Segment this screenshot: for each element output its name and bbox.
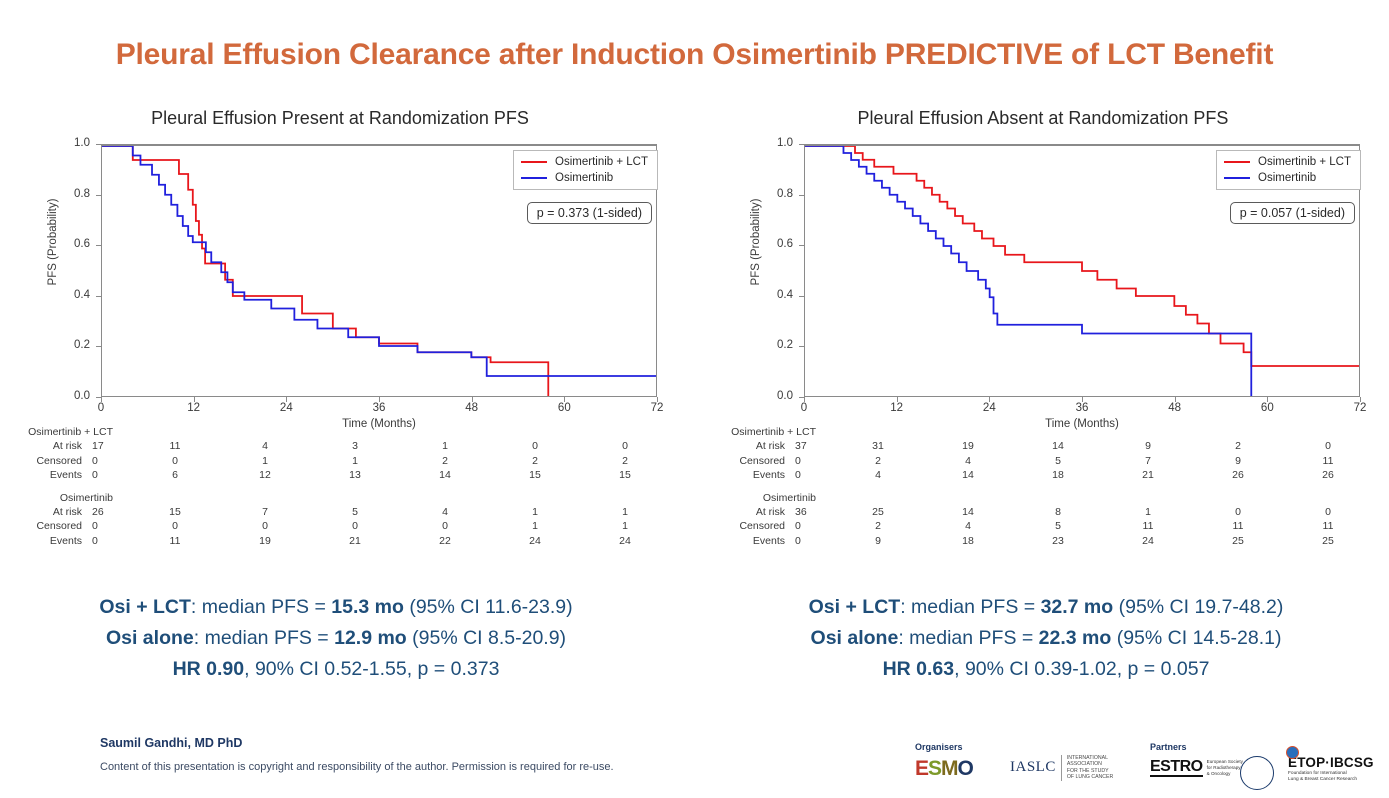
risk-cell: 9 bbox=[833, 534, 923, 549]
risk-row-label: At risk bbox=[10, 439, 82, 454]
risk-cell: 9 bbox=[1193, 454, 1283, 469]
x-axis-tick-label: 60 bbox=[1247, 402, 1287, 414]
risk-row-label: Events bbox=[10, 534, 82, 549]
risk-cell: 5 bbox=[1013, 454, 1103, 469]
summary-ci: (95% CI 8.5-20.9) bbox=[407, 627, 566, 649]
legend-swatch-icon bbox=[521, 177, 547, 180]
risk-cell: 4 bbox=[400, 505, 490, 520]
summary-line-hr-right: HR 0.63, 90% CI 0.39-1.02, p = 0.057 bbox=[716, 654, 1376, 685]
legend-label: Osimertinib + LCT bbox=[1258, 156, 1351, 168]
risk-table-group: Osimertinib + LCTAt risk37311914920Censo… bbox=[713, 426, 1373, 483]
x-axis-tick-label: 72 bbox=[1340, 402, 1380, 414]
summary-line-lct-right: Osi + LCT: median PFS = 32.7 mo (95% CI … bbox=[716, 592, 1376, 623]
risk-table-row: Events0111921222424 bbox=[10, 534, 670, 549]
plot-area-left: PFS (Probability) 0.00.20.40.60.81.0 012… bbox=[10, 136, 670, 426]
risk-cell: 2 bbox=[400, 454, 490, 469]
km-series-line bbox=[805, 146, 1251, 396]
summary-ci: (95% CI 19.7-48.2) bbox=[1113, 596, 1283, 618]
risk-cell: 2 bbox=[833, 454, 923, 469]
risk-cell: 11 bbox=[1283, 519, 1373, 534]
risk-table-row: At risk37311914920 bbox=[713, 439, 1373, 454]
risk-table-row: At risk261575411 bbox=[10, 505, 670, 520]
risk-cell: 1 bbox=[490, 505, 580, 520]
risk-cell: 25 bbox=[1283, 534, 1373, 549]
risk-row-label: Censored bbox=[10, 454, 82, 469]
risk-cell: 4 bbox=[923, 519, 1013, 534]
summary-label: Osi alone bbox=[106, 627, 194, 649]
risk-table-row: Censored0000011 bbox=[10, 519, 670, 534]
risk-cell: 0 bbox=[785, 468, 833, 483]
x-axis-tick-mark bbox=[657, 397, 658, 402]
etop-wordmark: ETOP·IBCSG bbox=[1288, 755, 1374, 770]
summary-text: : median PFS = bbox=[194, 627, 334, 649]
x-axis-tick-mark bbox=[564, 397, 565, 402]
x-axis-tick-label: 36 bbox=[1062, 402, 1102, 414]
risk-row-label: Censored bbox=[713, 454, 785, 469]
risk-row-cells: 37311914920 bbox=[785, 439, 1373, 454]
x-axis-tick-label: 60 bbox=[544, 402, 584, 414]
risk-cell: 18 bbox=[923, 534, 1013, 549]
x-axis-tick-mark bbox=[804, 397, 805, 402]
risk-cell: 15 bbox=[490, 468, 580, 483]
hazard-ratio-ci: , 90% CI 0.52-1.55, p = 0.373 bbox=[244, 658, 499, 680]
risk-table-row: Censored0245111111 bbox=[713, 519, 1373, 534]
risk-cell: 0 bbox=[580, 439, 670, 454]
risk-cell: 25 bbox=[1193, 534, 1283, 549]
esmo-logo: ESMO bbox=[915, 758, 973, 779]
etop-ibcsg-logo: ETOP·IBCSG Foundation for InternationalL… bbox=[1288, 755, 1374, 783]
risk-cell: 1 bbox=[490, 519, 580, 534]
x-axis-tick-label: 72 bbox=[637, 402, 677, 414]
legend-item: Osimertinib + LCT bbox=[1224, 156, 1351, 168]
summary-ci: (95% CI 14.5-28.1) bbox=[1111, 627, 1281, 649]
risk-row-cells: 061213141515 bbox=[82, 468, 670, 483]
x-axis-tick-mark bbox=[1267, 397, 1268, 402]
hazard-ratio: HR 0.90 bbox=[173, 658, 245, 680]
esmo-letter: S bbox=[928, 757, 941, 780]
risk-cell: 0 bbox=[1193, 505, 1283, 520]
iaslc-wordmark: IASLC bbox=[1010, 759, 1056, 776]
partners-label: Partners bbox=[1150, 742, 1187, 752]
risk-cell: 18 bbox=[1013, 468, 1103, 483]
summary-text: : median PFS = bbox=[191, 596, 331, 618]
estro-subtitle: European Societyfor Radiotherapy& Oncolo… bbox=[1207, 759, 1243, 777]
risk-cell: 4 bbox=[220, 439, 310, 454]
risk-cell: 14 bbox=[400, 468, 490, 483]
legend-swatch-icon bbox=[521, 161, 547, 164]
legend-item: Osimertinib + LCT bbox=[521, 156, 648, 168]
risk-cell: 11 bbox=[130, 534, 220, 549]
iaslc-subtitle: INTERNATIONALASSOCIATIONFOR THE STUDYOF … bbox=[1061, 755, 1113, 781]
summary-line-osi-right: Osi alone: median PFS = 22.3 mo (95% CI … bbox=[716, 623, 1376, 654]
x-axis-tick-label: 24 bbox=[969, 402, 1009, 414]
organisers-label: Organisers bbox=[915, 742, 963, 752]
risk-cell: 11 bbox=[130, 439, 220, 454]
risk-table-row: Events061213141515 bbox=[10, 468, 670, 483]
risk-cell: 14 bbox=[923, 505, 1013, 520]
summary-line-osi-left: Osi alone: median PFS = 12.9 mo (95% CI … bbox=[6, 623, 666, 654]
esmo-letter: O bbox=[958, 757, 973, 780]
risk-cell: 19 bbox=[220, 534, 310, 549]
risk-table-right: Osimertinib + LCTAt risk37311914920Censo… bbox=[713, 426, 1373, 557]
risk-row-label: At risk bbox=[713, 439, 785, 454]
panel-effusion-absent: Pleural Effusion Absent at Randomization… bbox=[713, 108, 1373, 578]
risk-cell: 0 bbox=[82, 534, 130, 549]
x-axis-tick-mark bbox=[194, 397, 195, 402]
risk-group-name: Osimertinib bbox=[10, 492, 113, 505]
risk-cell: 0 bbox=[130, 454, 220, 469]
risk-cell: 6 bbox=[130, 468, 220, 483]
iaslc-logo: IASLC INTERNATIONALASSOCIATIONFOR THE ST… bbox=[1010, 755, 1113, 781]
p-value-box-left: p = 0.373 (1-sided) bbox=[527, 202, 652, 224]
summary-line-hr-left: HR 0.90, 90% CI 0.52-1.55, p = 0.373 bbox=[6, 654, 666, 685]
legend-swatch-icon bbox=[1224, 177, 1250, 180]
risk-table-group: OsimertinibAt risk261575411Censored00000… bbox=[10, 492, 670, 549]
risk-cell: 2 bbox=[490, 454, 580, 469]
risk-cell: 36 bbox=[785, 505, 833, 520]
y-axis-tick-label: 0.6 bbox=[42, 238, 90, 250]
summary-stats-left: Osi + LCT: median PFS = 15.3 mo (95% CI … bbox=[6, 592, 666, 685]
x-axis-tick-mark bbox=[1082, 397, 1083, 402]
legend-right: Osimertinib + LCTOsimertinib bbox=[1216, 150, 1361, 190]
risk-row-cells: 261575411 bbox=[82, 505, 670, 520]
risk-cell: 23 bbox=[1013, 534, 1103, 549]
hazard-ratio: HR 0.63 bbox=[883, 658, 955, 680]
summary-label: Osi + LCT bbox=[809, 596, 901, 618]
risk-table-row: At risk171143100 bbox=[10, 439, 670, 454]
risk-cell: 31 bbox=[833, 439, 923, 454]
risk-cell: 8 bbox=[1013, 505, 1103, 520]
x-axis-tick-mark bbox=[286, 397, 287, 402]
risk-row-cells: 0245111111 bbox=[785, 519, 1373, 534]
x-axis-tick-mark bbox=[1360, 397, 1361, 402]
x-axis-tick-label: 12 bbox=[877, 402, 917, 414]
risk-row-label: Censored bbox=[713, 519, 785, 534]
risk-table-left: Osimertinib + LCTAt risk171143100Censore… bbox=[10, 426, 670, 557]
partner-circular-logo bbox=[1240, 756, 1274, 790]
risk-cell: 0 bbox=[785, 519, 833, 534]
summary-value: 12.9 mo bbox=[334, 627, 407, 649]
x-axis-tick-label: 0 bbox=[784, 402, 824, 414]
risk-row-cells: 091823242525 bbox=[785, 534, 1373, 549]
risk-cell: 1 bbox=[580, 519, 670, 534]
risk-cell: 24 bbox=[1103, 534, 1193, 549]
risk-row-cells: 0111921222424 bbox=[82, 534, 670, 549]
risk-cell: 9 bbox=[1103, 439, 1193, 454]
legend-left: Osimertinib + LCTOsimertinib bbox=[513, 150, 658, 190]
y-axis-tick-label: 0.0 bbox=[42, 390, 90, 402]
risk-cell: 17 bbox=[82, 439, 130, 454]
risk-group-name: Osimertinib + LCT bbox=[10, 426, 113, 439]
risk-table-group: OsimertinibAt risk3625148100Censored0245… bbox=[713, 492, 1373, 549]
esmo-letter: M bbox=[941, 757, 958, 780]
legend-item: Osimertinib bbox=[521, 172, 648, 184]
risk-row-cells: 0011222 bbox=[82, 454, 670, 469]
risk-cell: 0 bbox=[82, 519, 130, 534]
x-axis-tick-label: 36 bbox=[359, 402, 399, 414]
footer-logos: Organisers Partners ESMO IASLC INTERNATI… bbox=[910, 742, 1380, 794]
estro-wordmark: ESTRO bbox=[1150, 758, 1203, 777]
page-title: Pleural Effusion Clearance after Inducti… bbox=[0, 38, 1389, 72]
risk-cell: 4 bbox=[923, 454, 1013, 469]
summary-line-lct-left: Osi + LCT: median PFS = 15.3 mo (95% CI … bbox=[6, 592, 666, 623]
x-axis-tick-label: 12 bbox=[174, 402, 214, 414]
risk-cell: 1 bbox=[310, 454, 400, 469]
risk-cell: 3 bbox=[310, 439, 400, 454]
risk-row-label: Events bbox=[10, 468, 82, 483]
risk-cell: 0 bbox=[310, 519, 400, 534]
risk-cell: 0 bbox=[1283, 439, 1373, 454]
risk-cell: 15 bbox=[130, 505, 220, 520]
plot-area-right: PFS (Probability) 0.00.20.40.60.81.0 012… bbox=[713, 136, 1373, 426]
summary-ci: (95% CI 11.6-23.9) bbox=[404, 596, 573, 618]
copyright-notice: Content of this presentation is copyrigh… bbox=[100, 761, 614, 773]
risk-table-row: Events041418212626 bbox=[713, 468, 1373, 483]
risk-row-label: At risk bbox=[10, 505, 82, 520]
risk-row-label: Events bbox=[713, 534, 785, 549]
summary-label: Osi alone bbox=[811, 627, 899, 649]
hazard-ratio-ci: , 90% CI 0.39-1.02, p = 0.057 bbox=[954, 658, 1209, 680]
km-series-line bbox=[102, 146, 548, 396]
risk-cell: 26 bbox=[1283, 468, 1373, 483]
y-axis-tick-label: 0.8 bbox=[42, 188, 90, 200]
risk-row-cells: 041418212626 bbox=[785, 468, 1373, 483]
risk-cell: 0 bbox=[490, 439, 580, 454]
risk-cell: 14 bbox=[923, 468, 1013, 483]
risk-cell: 24 bbox=[490, 534, 580, 549]
legend-item: Osimertinib bbox=[1224, 172, 1351, 184]
risk-cell: 24 bbox=[580, 534, 670, 549]
risk-cell: 0 bbox=[785, 534, 833, 549]
x-axis-tick-label: 0 bbox=[81, 402, 121, 414]
esmo-letter: E bbox=[915, 757, 928, 780]
y-axis-tick-label: 1.0 bbox=[745, 137, 793, 149]
risk-cell: 1 bbox=[580, 505, 670, 520]
risk-table-row: At risk3625148100 bbox=[713, 505, 1373, 520]
chart-title-left: Pleural Effusion Present at Randomizatio… bbox=[10, 108, 670, 129]
risk-cell: 13 bbox=[310, 468, 400, 483]
summary-value: 22.3 mo bbox=[1039, 627, 1112, 649]
risk-cell: 25 bbox=[833, 505, 923, 520]
risk-cell: 0 bbox=[82, 454, 130, 469]
risk-cell: 19 bbox=[923, 439, 1013, 454]
panel-effusion-present: Pleural Effusion Present at Randomizatio… bbox=[10, 108, 670, 578]
risk-cell: 0 bbox=[220, 519, 310, 534]
risk-cell: 4 bbox=[833, 468, 923, 483]
x-axis-tick-label: 48 bbox=[1155, 402, 1195, 414]
legend-label: Osimertinib bbox=[1258, 172, 1316, 184]
etop-subtitle: Foundation for InternationalLung & Breas… bbox=[1288, 771, 1374, 783]
summary-value: 32.7 mo bbox=[1041, 596, 1114, 618]
summary-label: Osi + LCT bbox=[99, 596, 191, 618]
risk-cell: 11 bbox=[1283, 454, 1373, 469]
risk-cell: 11 bbox=[1193, 519, 1283, 534]
author-name: Saumil Gandhi, MD PhD bbox=[100, 736, 242, 750]
risk-group-name: Osimertinib bbox=[713, 492, 816, 505]
risk-cell: 12 bbox=[220, 468, 310, 483]
x-axis-tick-mark bbox=[989, 397, 990, 402]
risk-cell: 5 bbox=[310, 505, 400, 520]
y-axis-tick-label: 0.4 bbox=[745, 289, 793, 301]
y-axis-tick-label: 0.2 bbox=[745, 339, 793, 351]
y-axis-tick-label: 0.6 bbox=[745, 238, 793, 250]
x-axis-tick-label: 48 bbox=[452, 402, 492, 414]
risk-cell: 2 bbox=[833, 519, 923, 534]
summary-stats-right: Osi + LCT: median PFS = 32.7 mo (95% CI … bbox=[716, 592, 1376, 685]
risk-cell: 26 bbox=[82, 505, 130, 520]
summary-text: : median PFS = bbox=[900, 596, 1040, 618]
risk-cell: 0 bbox=[785, 454, 833, 469]
risk-cell: 21 bbox=[1103, 468, 1193, 483]
x-axis-tick-mark bbox=[897, 397, 898, 402]
risk-row-label: Events bbox=[713, 468, 785, 483]
risk-row-cells: 0000011 bbox=[82, 519, 670, 534]
risk-cell: 11 bbox=[1103, 519, 1193, 534]
risk-cell: 7 bbox=[220, 505, 310, 520]
summary-text: : median PFS = bbox=[898, 627, 1038, 649]
etop-mark-icon bbox=[1286, 746, 1299, 759]
risk-group-name: Osimertinib + LCT bbox=[713, 426, 816, 439]
x-axis-tick-mark bbox=[379, 397, 380, 402]
slide-root: Pleural Effusion Clearance after Inducti… bbox=[0, 0, 1389, 798]
x-axis-tick-mark bbox=[1175, 397, 1176, 402]
risk-row-label: Censored bbox=[10, 519, 82, 534]
risk-cell: 26 bbox=[1193, 468, 1283, 483]
risk-table-row: Censored0011222 bbox=[10, 454, 670, 469]
risk-cell: 14 bbox=[1013, 439, 1103, 454]
risk-table-row: Events091823242525 bbox=[713, 534, 1373, 549]
x-axis-tick-mark bbox=[101, 397, 102, 402]
risk-row-label: At risk bbox=[713, 505, 785, 520]
risk-cell: 37 bbox=[785, 439, 833, 454]
y-axis-tick-label: 0.2 bbox=[42, 339, 90, 351]
risk-table-group: Osimertinib + LCTAt risk171143100Censore… bbox=[10, 426, 670, 483]
risk-cell: 2 bbox=[580, 454, 670, 469]
summary-value: 15.3 mo bbox=[331, 596, 404, 618]
legend-label: Osimertinib + LCT bbox=[555, 156, 648, 168]
risk-cell: 21 bbox=[310, 534, 400, 549]
risk-cell: 2 bbox=[1193, 439, 1283, 454]
legend-swatch-icon bbox=[1224, 161, 1250, 164]
risk-cell: 0 bbox=[130, 519, 220, 534]
risk-cell: 0 bbox=[82, 468, 130, 483]
risk-cell: 1 bbox=[1103, 505, 1193, 520]
risk-row-cells: 02457911 bbox=[785, 454, 1373, 469]
risk-cell: 15 bbox=[580, 468, 670, 483]
estro-logo: ESTRO European Societyfor Radiotherapy& … bbox=[1150, 758, 1243, 777]
p-value-box-right: p = 0.057 (1-sided) bbox=[1230, 202, 1355, 224]
risk-cell: 0 bbox=[1283, 505, 1373, 520]
risk-cell: 1 bbox=[400, 439, 490, 454]
y-axis-tick-label: 0.4 bbox=[42, 289, 90, 301]
y-axis-tick-label: 1.0 bbox=[42, 137, 90, 149]
risk-cell: 7 bbox=[1103, 454, 1193, 469]
x-axis-tick-mark bbox=[472, 397, 473, 402]
y-axis-tick-label: 0.0 bbox=[745, 390, 793, 402]
risk-cell: 1 bbox=[220, 454, 310, 469]
risk-cell: 22 bbox=[400, 534, 490, 549]
risk-table-row: Censored02457911 bbox=[713, 454, 1373, 469]
risk-cell: 5 bbox=[1013, 519, 1103, 534]
risk-cell: 0 bbox=[400, 519, 490, 534]
y-axis-tick-label: 0.8 bbox=[745, 188, 793, 200]
risk-row-cells: 3625148100 bbox=[785, 505, 1373, 520]
x-axis-tick-label: 24 bbox=[266, 402, 306, 414]
chart-title-right: Pleural Effusion Absent at Randomization… bbox=[713, 108, 1373, 129]
risk-row-cells: 171143100 bbox=[82, 439, 670, 454]
legend-label: Osimertinib bbox=[555, 172, 613, 184]
